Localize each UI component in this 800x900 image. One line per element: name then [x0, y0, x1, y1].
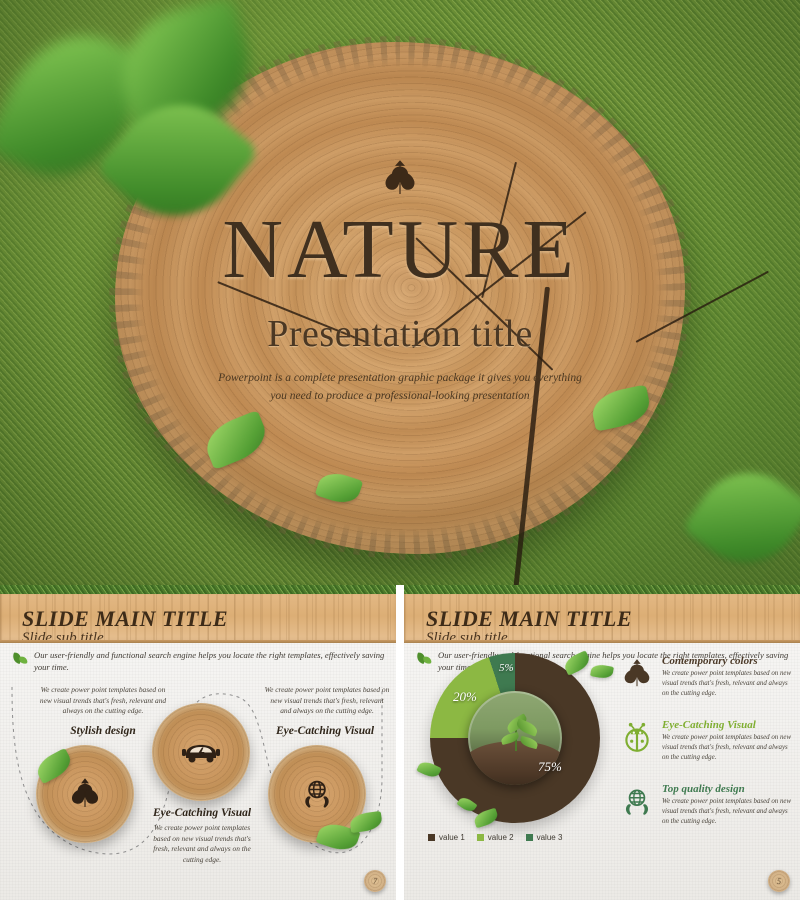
slice-label-value-2: 20%	[453, 689, 477, 705]
slice-label-value-1: 75%	[538, 759, 562, 775]
leaf-decoration-icon	[562, 650, 592, 675]
item-2-body: We create power point templates based on…	[146, 823, 258, 865]
leaf-plant-icon	[620, 657, 654, 691]
page-number-badge: 7	[364, 870, 386, 892]
item-2-title: Eye-Catching Visual	[146, 807, 258, 819]
slide-left-header: SLIDE MAIN TITLE Slide sub title	[0, 594, 396, 643]
globe-in-hands-icon	[620, 785, 654, 819]
stump-circle-2[interactable]	[152, 703, 250, 801]
legend-item-3[interactable]: value 3	[526, 833, 563, 842]
presentation-preview-page: NATURE Presentation title Powerpoint is …	[0, 0, 800, 900]
feature-3-title: Top quality design	[662, 783, 796, 795]
legend-swatch	[477, 834, 484, 841]
hero-slide[interactable]: NATURE Presentation title Powerpoint is …	[0, 0, 800, 585]
item-3-body: We create power point templates based on…	[264, 685, 390, 717]
grass-strip	[0, 585, 396, 594]
feature-3[interactable]: Top quality design We create power point…	[620, 783, 796, 827]
legend-swatch	[428, 834, 435, 841]
legend-label: value 2	[488, 833, 514, 842]
feature-3-body: We create power point templates based on…	[662, 797, 796, 827]
slice-label-value-3: 5%	[499, 662, 514, 674]
feature-2-body: We create power point templates based on…	[662, 733, 796, 763]
slide-right-title: SLIDE MAIN TITLE	[426, 606, 632, 632]
hero-subtitle: Presentation title	[267, 312, 532, 356]
item-3-title: Eye-Catching Visual	[258, 725, 392, 737]
leaf-plant-icon	[67, 777, 103, 811]
hero-body-text: Powerpoint is a complete presentation gr…	[215, 370, 585, 406]
leaf-bullet-icon	[12, 651, 28, 665]
sprout-leaf	[515, 718, 540, 736]
slide-right[interactable]: SLIDE MAIN TITLE Slide sub title Our use…	[404, 585, 800, 900]
item-1-body: We create power point templates based on…	[36, 685, 170, 717]
legend-swatch	[526, 834, 533, 841]
slide-left-title: SLIDE MAIN TITLE	[22, 606, 228, 632]
electric-car-icon	[181, 739, 221, 765]
donut-chart[interactable]: 75% 20% 5%	[416, 651, 616, 827]
slide-thumbnails-row: SLIDE MAIN TITLE Slide sub title Our use…	[0, 585, 800, 900]
chart-legend: value 1 value 2 value 3	[428, 833, 562, 842]
slide-left-intro-text: Our user-friendly and functional search …	[34, 649, 386, 674]
feature-1-title: Contemporary colors	[662, 655, 796, 667]
slide-right-header: SLIDE MAIN TITLE Slide sub title	[404, 594, 800, 643]
legend-item-2[interactable]: value 2	[477, 833, 514, 842]
feature-2-title: Eye-Catching Visual	[662, 719, 796, 731]
slide-left-intro: Our user-friendly and functional search …	[12, 649, 386, 674]
donut-ring	[430, 653, 600, 823]
leaf-decoration-icon	[590, 663, 614, 680]
globe-in-hands-icon	[299, 777, 335, 811]
hero-title: NATURE	[222, 208, 577, 292]
page-number-badge: 5	[768, 870, 790, 892]
legend-label: value 3	[537, 833, 563, 842]
ladybug-icon	[620, 721, 654, 755]
grass-strip	[404, 585, 800, 594]
legend-item-1[interactable]: value 1	[428, 833, 465, 842]
item-1-title: Stylish design	[36, 725, 170, 737]
feature-1[interactable]: Contemporary colors We create power poin…	[620, 655, 796, 699]
feature-2[interactable]: Eye-Catching Visual We create power poin…	[620, 719, 796, 763]
legend-label: value 1	[439, 833, 465, 842]
feature-1-body: We create power point templates based on…	[662, 669, 796, 699]
slide-left[interactable]: SLIDE MAIN TITLE Slide sub title Our use…	[0, 585, 396, 900]
leaf-plant-logo-icon	[380, 160, 420, 198]
